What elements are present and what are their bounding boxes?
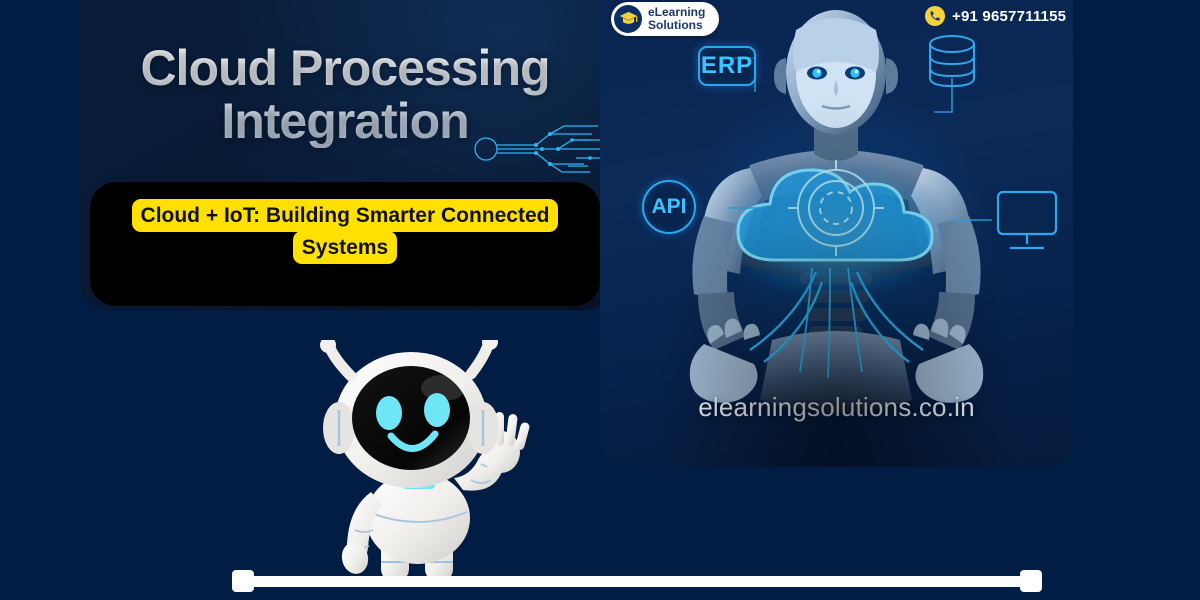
bottom-progress-slider[interactable] xyxy=(232,570,1042,592)
label-api-text: API xyxy=(651,195,686,219)
hero-image-panel: ERP API elearningsolutions.co.in xyxy=(600,0,1073,467)
website-url: elearningsolutions.co.in xyxy=(600,392,1073,423)
circuit-decoration-icon xyxy=(472,118,610,180)
page-subtitle: Cloud + IoT: Building Smarter Connected … xyxy=(90,200,600,264)
subtitle-card: Cloud + IoT: Building Smarter Connected … xyxy=(90,182,600,306)
label-erp: ERP xyxy=(698,46,756,86)
headline-card: Cloud Processing Integration Cloud + IoT… xyxy=(80,0,610,310)
logo-badge xyxy=(614,5,642,33)
headline-line-1: Cloud Processing xyxy=(140,40,549,96)
graduation-cap-icon xyxy=(619,11,638,27)
subtitle-line-1: Cloud + IoT: Building Smarter Connected xyxy=(132,199,559,232)
monitor-icon xyxy=(998,192,1056,248)
slider-handle-right[interactable] xyxy=(1020,570,1042,592)
label-erp-text: ERP xyxy=(701,52,753,80)
brand-logo[interactable]: eLearning Solutions xyxy=(611,2,719,36)
cloud-hologram-icon xyxy=(718,156,954,304)
robot-mascot xyxy=(285,340,555,590)
slider-handle-left[interactable] xyxy=(232,570,254,592)
phone-icon xyxy=(925,6,945,26)
subtitle-line-2: Systems xyxy=(293,231,397,264)
poster-canvas: Cloud Processing Integration Cloud + IoT… xyxy=(0,0,1200,600)
brand-logo-text: eLearning Solutions xyxy=(648,6,705,33)
contact-phone[interactable]: +91 9657711155 xyxy=(925,6,1066,26)
slider-track[interactable] xyxy=(242,576,1032,587)
phone-number: +91 9657711155 xyxy=(952,8,1066,25)
label-api: API xyxy=(642,180,696,234)
